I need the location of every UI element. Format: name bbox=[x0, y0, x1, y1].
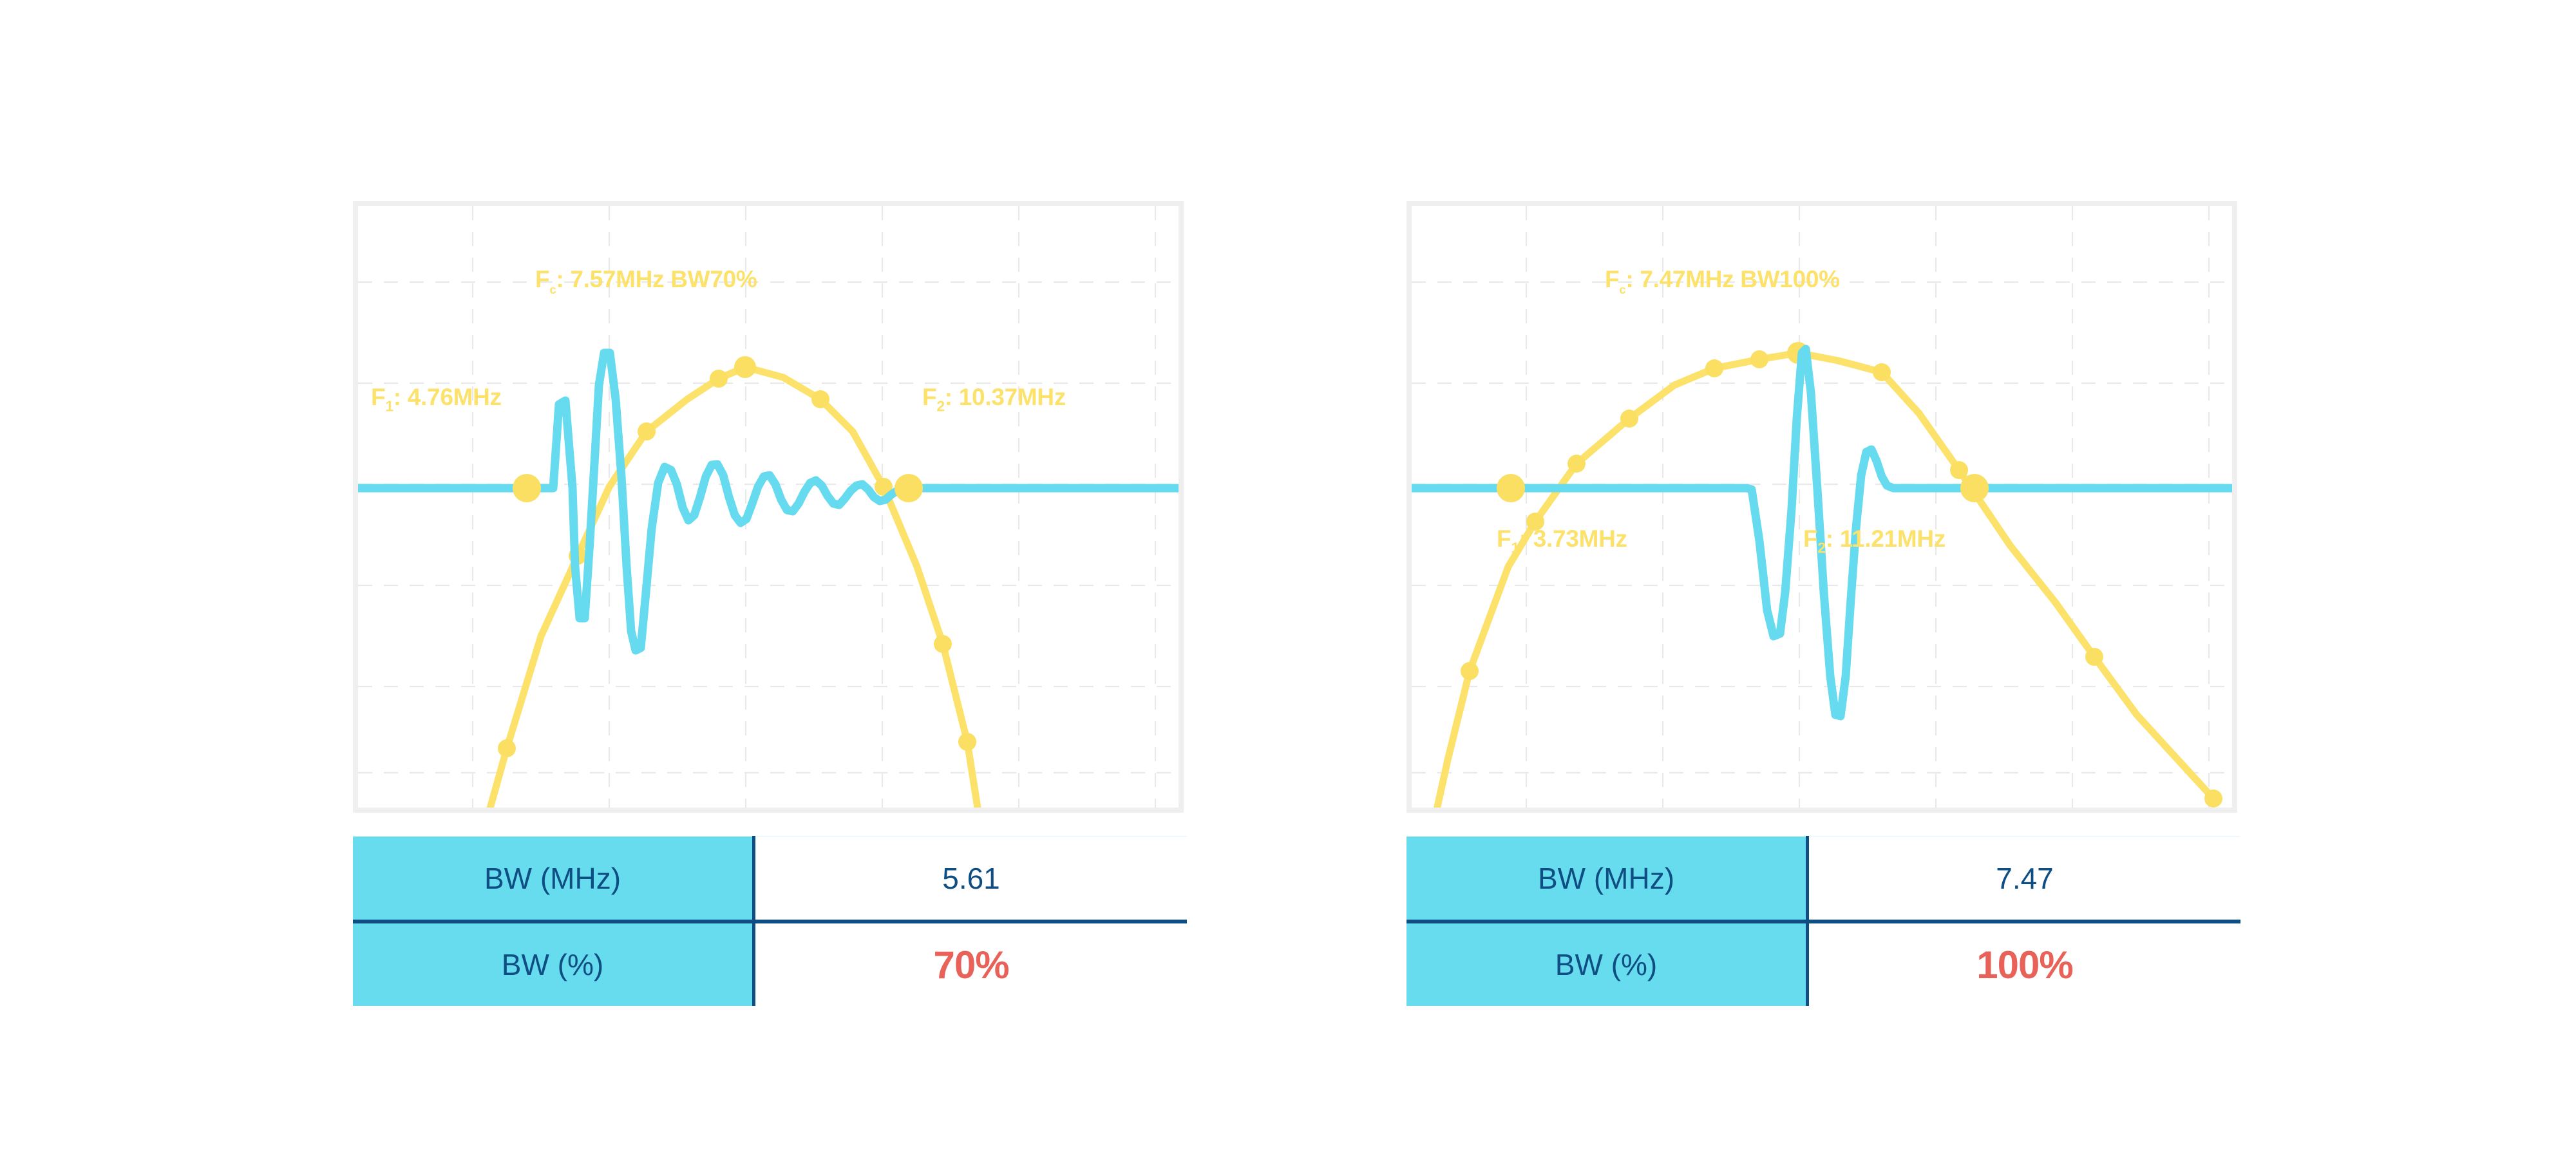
right-f2-text: : 11.21MHz bbox=[1826, 525, 1946, 552]
left-fc-symbol: F bbox=[535, 266, 549, 292]
table-row: BW (%) 70% bbox=[353, 922, 1187, 1006]
right-f1-subscript: 1 bbox=[1511, 540, 1519, 556]
right-fc-subscript: c bbox=[1619, 283, 1625, 296]
left-fc-subscript: c bbox=[549, 283, 556, 296]
left-f1-text: : 4.76MHz bbox=[393, 384, 502, 410]
left-f2-symbol: F bbox=[922, 384, 936, 410]
right-f1-marker bbox=[1497, 474, 1525, 502]
right-bw-pct-value: 100% bbox=[1976, 943, 2072, 987]
right-fc-symbol: F bbox=[1605, 266, 1619, 292]
right-f1-symbol: F bbox=[1497, 525, 1511, 552]
right-panel: Fc: 7.47MHz BW100% F1: 3.73MHz F2: 11.21… bbox=[1406, 201, 2237, 813]
right-plot-frame: Fc: 7.47MHz BW100% F1: 3.73MHz F2: 11.21… bbox=[1406, 201, 2237, 813]
left-fc-text: : 7.57MHz BW70% bbox=[556, 266, 757, 292]
right-f1-text: : 3.73MHz bbox=[1519, 525, 1627, 552]
right-f2-subscript: 2 bbox=[1817, 540, 1825, 556]
left-f2-subscript: 2 bbox=[936, 398, 944, 415]
left-f1-symbol: F bbox=[371, 384, 385, 410]
left-gridlines bbox=[358, 206, 1179, 808]
right-f2-label: F2: 11.21MHz bbox=[1803, 527, 1946, 556]
table-row: BW (MHz) 5.61 bbox=[353, 837, 1187, 922]
left-center-frequency-label: Fc: 7.57MHz BW70% bbox=[535, 267, 757, 296]
left-chart-svg bbox=[358, 206, 1179, 808]
right-center-frequency-label: Fc: 7.47MHz BW100% bbox=[1605, 267, 1840, 296]
page-canvas: Fc: 7.57MHz BW70% F1: 4.76MHz F2: 10.37M… bbox=[0, 0, 2576, 1154]
right-bw-table: BW (MHz) 7.47 BW (%) 100% bbox=[1406, 836, 2240, 1006]
left-f2-text: : 10.37MHz bbox=[945, 384, 1066, 410]
left-f2-label: F2: 10.37MHz bbox=[922, 385, 1066, 414]
left-bw-mhz-label: BW (MHz) bbox=[353, 837, 754, 922]
right-plot-area bbox=[1412, 206, 2232, 808]
table-row: BW (MHz) 7.47 bbox=[1406, 837, 2240, 922]
table-row: BW (%) 100% bbox=[1406, 922, 2240, 1006]
right-f1-label: F1: 3.73MHz bbox=[1497, 527, 1627, 556]
right-bw-mhz-value: 7.47 bbox=[1996, 862, 2054, 895]
right-f2-symbol: F bbox=[1803, 525, 1817, 552]
left-plot-area bbox=[358, 206, 1179, 808]
right-chart-svg bbox=[1412, 206, 2232, 808]
left-plot-frame: Fc: 7.57MHz BW70% F1: 4.76MHz F2: 10.37M… bbox=[353, 201, 1184, 813]
right-fc-text: : 7.47MHz BW100% bbox=[1625, 266, 1839, 292]
right-bw-mhz-label: BW (MHz) bbox=[1406, 837, 1808, 922]
left-panel: Fc: 7.57MHz BW70% F1: 4.76MHz F2: 10.37M… bbox=[353, 201, 1184, 813]
right-f2-marker bbox=[1960, 474, 1989, 502]
left-bw-pct-value: 70% bbox=[933, 943, 1009, 987]
left-bw-pct-label: BW (%) bbox=[353, 922, 754, 1006]
left-f1-marker bbox=[513, 474, 541, 502]
left-f1-label: F1: 4.76MHz bbox=[371, 385, 502, 414]
right-spectrum-markers bbox=[1461, 342, 2222, 808]
left-bw-mhz-value: 5.61 bbox=[942, 862, 1000, 895]
left-f1-subscript: 1 bbox=[385, 398, 393, 415]
left-f2-marker bbox=[895, 474, 923, 502]
left-bw-table: BW (MHz) 5.61 BW (%) 70% bbox=[353, 836, 1187, 1006]
right-bw-pct-label: BW (%) bbox=[1406, 922, 1808, 1006]
